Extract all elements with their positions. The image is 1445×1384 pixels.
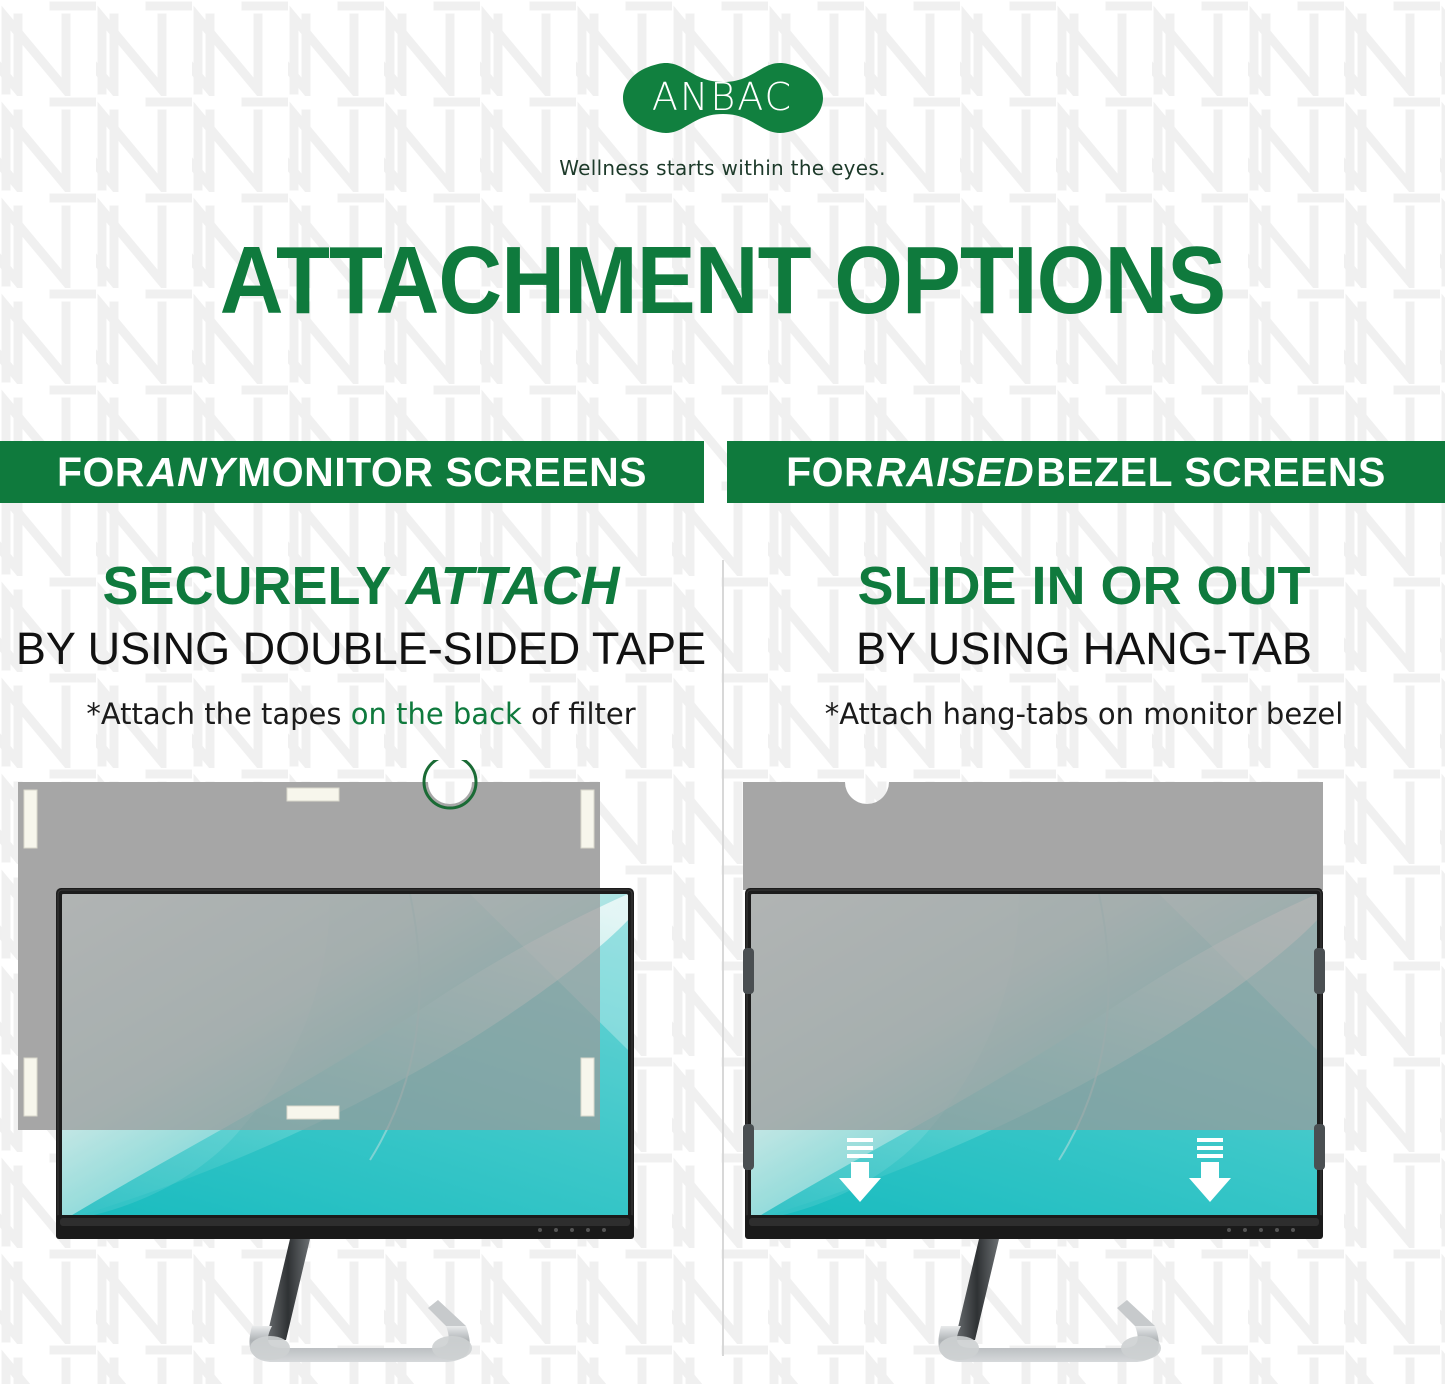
column-raised-bezel: SLIDE IN OR OUT BY USING HANG-TAB *Attac… <box>723 555 1445 731</box>
banner-right-suffix: BEZEL SCREENS <box>1036 449 1386 496</box>
brand-logo: ANBAC Wellness starts within the eyes. <box>0 52 1445 180</box>
left-note: *Attach the tapes on the back of filter <box>0 697 722 731</box>
banner-any-monitor-screens: FOR ANY MONITOR SCREENS <box>0 441 704 503</box>
right-heading-black: BY USING HANG-TAB <box>723 623 1445 675</box>
banner-raised-bezel-screens: FOR RAISED BEZEL SCREENS <box>727 441 1445 503</box>
monitor <box>743 888 1325 1239</box>
logo-badge-shape: ANBAC <box>618 52 828 144</box>
monitor-stand <box>938 1239 1161 1362</box>
monitor <box>56 888 634 1239</box>
illustration-tape-attach <box>0 760 722 1380</box>
banner-left-emphasis: ANY <box>145 449 237 496</box>
brand-tagline: Wellness starts within the eyes. <box>0 156 1445 180</box>
logo-wordmark: ANBAC <box>618 75 828 119</box>
right-note: *Attach hang-tabs on monitor bezel <box>723 697 1445 731</box>
banner-left-suffix: MONITOR SCREENS <box>237 449 647 496</box>
right-heading-green: SLIDE IN OR OUT <box>723 555 1445 617</box>
left-heading-green: SECURELY ATTACH <box>0 555 722 617</box>
left-note-prefix: *Attach the tapes <box>86 697 350 731</box>
banner-right-emphasis: RAISED <box>874 449 1036 496</box>
monitor-stand <box>249 1239 472 1362</box>
banner-right-prefix: FOR <box>786 449 874 496</box>
page-title: ATTACHMENT OPTIONS <box>58 226 1387 336</box>
left-note-suffix: of filter <box>522 697 636 731</box>
banner-left-prefix: FOR <box>57 449 145 496</box>
filter-overlay-on-screen <box>62 894 600 1130</box>
right-note-prefix: *Attach hang-tabs on monitor bezel <box>825 697 1344 731</box>
left-heading-black: BY USING DOUBLE-SIDED TAPE <box>0 623 722 675</box>
filter-overlay-on-screen <box>751 894 1317 1130</box>
column-any-monitor: SECURELY ATTACH BY USING DOUBLE-SIDED TA… <box>0 555 722 731</box>
left-heading-prefix: SECURELY <box>102 556 405 616</box>
illustration-hangtab-slide <box>723 760 1445 1380</box>
left-note-highlight: on the back <box>351 697 522 731</box>
privacy-filter-sheet <box>743 782 1323 890</box>
highlight-circle <box>424 760 476 808</box>
right-heading-prefix: SLIDE IN OR OUT <box>857 556 1310 616</box>
left-heading-emphasis: ATTACH <box>406 556 620 616</box>
